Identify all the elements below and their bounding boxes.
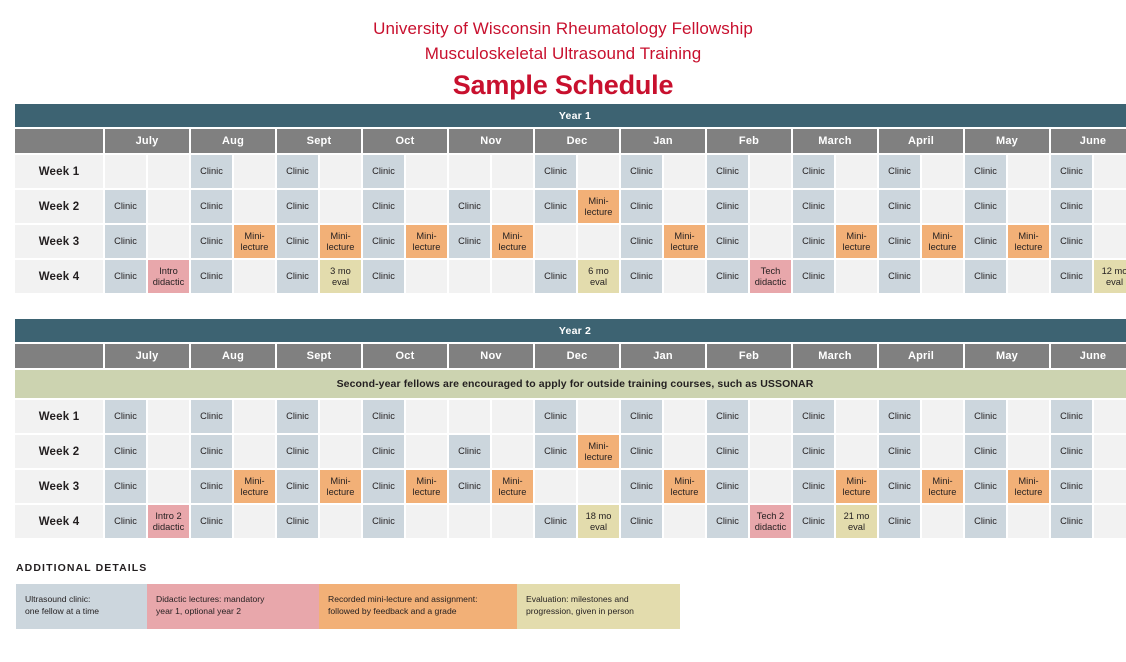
- week-label: Week 3: [15, 225, 103, 258]
- schedule-cell[interactable]: Clinic: [535, 260, 576, 293]
- year2-note-row: Second-year fellows are encouraged to ap…: [15, 370, 1126, 398]
- schedule-cell[interactable]: Clinic: [363, 505, 404, 538]
- legend-mini-line-1: Recorded mini-lecture and assignment:: [328, 593, 509, 605]
- year2-banner-row: Year 2: [15, 319, 1126, 342]
- schedule-cell[interactable]: Clinic: [793, 260, 834, 293]
- schedule-cell[interactable]: Clinic: [363, 225, 404, 258]
- schedule-cell[interactable]: [578, 470, 619, 503]
- schedule-cell[interactable]: Mini-lecture: [578, 435, 619, 468]
- schedule-cell[interactable]: Clinic: [965, 190, 1006, 223]
- legend: Ultrasound clinic: one fellow at a time …: [16, 584, 680, 629]
- table-spacer: [13, 295, 1113, 317]
- schedule-cell[interactable]: [578, 155, 619, 188]
- legend-didactic-line-2: year 1, optional year 2: [156, 605, 311, 617]
- schedule-cell[interactable]: Clinic: [191, 190, 232, 223]
- schedule-cell[interactable]: Clinic: [363, 155, 404, 188]
- schedule-cell[interactable]: Clinic: [707, 225, 748, 258]
- schedule-cell[interactable]: [922, 155, 963, 188]
- schedule-cell[interactable]: [320, 190, 361, 223]
- schedule-cell[interactable]: Clinic: [191, 400, 232, 433]
- schedule-cell[interactable]: [1008, 505, 1049, 538]
- schedule-cell[interactable]: Clinic: [793, 190, 834, 223]
- year1-month-header-row: July Aug Sept Oct Nov Dec Jan Feb March …: [15, 129, 1126, 153]
- month-header-july: July: [105, 129, 189, 153]
- schedule-cell[interactable]: [234, 155, 275, 188]
- month-header-oct: Oct: [363, 129, 447, 153]
- schedule-cell[interactable]: Clinic: [535, 190, 576, 223]
- schedule-cell[interactable]: Mini-lecture: [406, 225, 447, 258]
- month-header-sept: Sept: [277, 129, 361, 153]
- schedule-cell[interactable]: Clinic: [707, 435, 748, 468]
- year1-banner: Year 1: [15, 104, 1126, 127]
- schedule-cell[interactable]: Clinic: [965, 400, 1006, 433]
- schedule-cell[interactable]: [449, 505, 490, 538]
- schedule-cell[interactable]: Clinic: [277, 435, 318, 468]
- schedule-cell[interactable]: [492, 155, 533, 188]
- year2-month-header-row: July Aug Sept Oct Nov Dec Jan Feb March …: [15, 344, 1126, 368]
- schedule-cell[interactable]: Clinic: [191, 225, 232, 258]
- schedule-cell[interactable]: [1008, 435, 1049, 468]
- schedule-cell[interactable]: Clinic: [1051, 470, 1092, 503]
- schedule-cell[interactable]: Clinic: [105, 505, 146, 538]
- schedule-cell[interactable]: Clinic: [105, 435, 146, 468]
- schedule-cell[interactable]: [148, 435, 189, 468]
- schedule-cell[interactable]: 18 mo eval: [578, 505, 619, 538]
- month-header-nov: Nov: [449, 344, 533, 368]
- schedule-cell[interactable]: [750, 470, 791, 503]
- schedule-cell[interactable]: Clinic: [449, 435, 490, 468]
- schedule-cell[interactable]: [320, 435, 361, 468]
- schedule-cell[interactable]: Clinic: [1051, 505, 1092, 538]
- schedule-cell[interactable]: [750, 190, 791, 223]
- legend-didactic-line-1: Didactic lectures: mandatory: [156, 593, 311, 605]
- schedule-cell[interactable]: Mini-lecture: [664, 470, 705, 503]
- schedule-cell[interactable]: [234, 435, 275, 468]
- month-header-dec: Dec: [535, 344, 619, 368]
- schedule-cell[interactable]: Clinic: [105, 260, 146, 293]
- schedule-cell[interactable]: Clinic: [1051, 260, 1092, 293]
- schedule-cell[interactable]: Clinic: [105, 400, 146, 433]
- schedule-cell[interactable]: Clinic: [191, 260, 232, 293]
- schedule-cell[interactable]: Clinic: [621, 470, 662, 503]
- schedule-cell[interactable]: [664, 400, 705, 433]
- schedule-cell[interactable]: Clinic: [191, 435, 232, 468]
- schedule-cell[interactable]: Clinic: [621, 435, 662, 468]
- schedule-cell[interactable]: Clinic: [105, 190, 146, 223]
- schedule-cell[interactable]: Clinic: [793, 435, 834, 468]
- schedule-cell[interactable]: Clinic: [1051, 190, 1092, 223]
- table-row: Week 2 Clinic Clinic Clinic Clinic Clini…: [15, 190, 1126, 223]
- schedule-cell[interactable]: Clinic: [965, 470, 1006, 503]
- schedule-cell[interactable]: Clinic: [449, 190, 490, 223]
- year1-table: Year 1 July Aug Sept Oct Nov Dec Jan Feb…: [13, 102, 1126, 295]
- schedule-cell[interactable]: 21 mo eval: [836, 505, 877, 538]
- schedule-cell[interactable]: Clinic: [191, 155, 232, 188]
- schedule-cell[interactable]: Clinic: [535, 505, 576, 538]
- schedule-cell[interactable]: Clinic: [879, 435, 920, 468]
- table-row: Week 3 Clinic Clinic Mini-lecture Clinic…: [15, 225, 1126, 258]
- schedule-cell[interactable]: Clinic: [1051, 400, 1092, 433]
- schedule-page: University of Wisconsin Rheumatology Fel…: [0, 0, 1126, 662]
- week-label: Week 4: [15, 505, 103, 538]
- legend-eval-line-2: progression, given in person: [526, 605, 672, 617]
- schedule-cell[interactable]: Tech didactic: [750, 260, 791, 293]
- schedule-cell[interactable]: Clinic: [621, 155, 662, 188]
- schedule-cell[interactable]: [836, 400, 877, 433]
- schedule-cell[interactable]: Clinic: [191, 505, 232, 538]
- week-label: Week 2: [15, 190, 103, 223]
- additional-details-heading: ADDITIONAL DETAILS: [16, 562, 1126, 574]
- schedule-cell[interactable]: Clinic: [793, 225, 834, 258]
- schedule-cell[interactable]: Mini-lecture: [492, 470, 533, 503]
- schedule-cell[interactable]: [234, 505, 275, 538]
- schedule-cell[interactable]: [1008, 190, 1049, 223]
- year2-table: Year 2 July Aug Sept Oct Nov Dec Jan Feb…: [13, 317, 1126, 540]
- legend-eval-line-1: Evaluation: milestones and: [526, 593, 672, 605]
- schedule-cell[interactable]: [1094, 190, 1126, 223]
- month-header-aug: Aug: [191, 344, 275, 368]
- year1-banner-row: Year 1: [15, 104, 1126, 127]
- schedule-cell[interactable]: Clinic: [707, 505, 748, 538]
- schedule-cell[interactable]: [1094, 155, 1126, 188]
- schedule-cell[interactable]: [234, 190, 275, 223]
- schedule-cell[interactable]: Clinic: [277, 190, 318, 223]
- schedule-cell[interactable]: [1094, 505, 1126, 538]
- schedule-cell[interactable]: [492, 190, 533, 223]
- schedule-cell[interactable]: [664, 190, 705, 223]
- month-header-feb: Feb: [707, 344, 791, 368]
- schedule-cell[interactable]: Clinic: [621, 400, 662, 433]
- schedule-cell[interactable]: Intro 2 didactic: [148, 505, 189, 538]
- schedule-cell[interactable]: Mini-lecture: [1008, 470, 1049, 503]
- schedule-cell[interactable]: Intro didactic: [148, 260, 189, 293]
- legend-item-mini-lecture: Recorded mini-lecture and assignment: fo…: [319, 584, 517, 629]
- schedule-cell[interactable]: [406, 400, 447, 433]
- schedule-cell[interactable]: [492, 260, 533, 293]
- schedule-cell[interactable]: Clinic: [965, 225, 1006, 258]
- schedule-cell[interactable]: Clinic: [105, 225, 146, 258]
- schedule-cell[interactable]: [836, 435, 877, 468]
- legend-clinic-line-2: one fellow at a time: [25, 605, 139, 617]
- schedule-cell[interactable]: Clinic: [363, 470, 404, 503]
- schedule-cell[interactable]: Clinic: [277, 260, 318, 293]
- schedule-cell[interactable]: Clinic: [707, 155, 748, 188]
- schedule-cell[interactable]: [664, 505, 705, 538]
- schedule-cell[interactable]: Clinic: [879, 225, 920, 258]
- schedule-cell[interactable]: Mini-lecture: [836, 470, 877, 503]
- schedule-cell[interactable]: [449, 155, 490, 188]
- schedule-cell[interactable]: [234, 260, 275, 293]
- schedule-cell[interactable]: [1008, 260, 1049, 293]
- month-header-dec: Dec: [535, 129, 619, 153]
- schedule-cell[interactable]: Mini-lecture: [836, 225, 877, 258]
- table-row: Week 1 Clinic Clinic Clinic Clinic Clini…: [15, 400, 1126, 433]
- schedule-cell[interactable]: 3 mo eval: [320, 260, 361, 293]
- schedule-cell[interactable]: Clinic: [707, 470, 748, 503]
- schedule-cell[interactable]: Mini-lecture: [406, 470, 447, 503]
- schedule-cell[interactable]: Mini-lecture: [234, 470, 275, 503]
- schedule-cell[interactable]: Clinic: [449, 225, 490, 258]
- month-header-june: June: [1051, 344, 1126, 368]
- schedule-cell[interactable]: [105, 155, 146, 188]
- month-header-april: April: [879, 344, 963, 368]
- schedule-cell[interactable]: Clinic: [277, 400, 318, 433]
- schedule-cell[interactable]: [234, 400, 275, 433]
- schedule-cell[interactable]: [148, 190, 189, 223]
- corner-cell: [15, 344, 103, 368]
- schedule-cell[interactable]: [1094, 470, 1126, 503]
- month-header-july: July: [105, 344, 189, 368]
- schedule-cell[interactable]: Clinic: [879, 155, 920, 188]
- table-row: Week 4 Clinic Intro 2 didactic Clinic Cl…: [15, 505, 1126, 538]
- month-header-april: April: [879, 129, 963, 153]
- month-header-nov: Nov: [449, 129, 533, 153]
- schedule-cell[interactable]: Clinic: [277, 505, 318, 538]
- week-label: Week 1: [15, 155, 103, 188]
- schedule-cell[interactable]: Mini-lecture: [922, 225, 963, 258]
- month-header-may: May: [965, 129, 1049, 153]
- schedule-cell[interactable]: [1094, 225, 1126, 258]
- schedule-cell[interactable]: Clinic: [965, 505, 1006, 538]
- schedule-cell[interactable]: [1094, 435, 1126, 468]
- schedule-cell[interactable]: Mini-lecture: [492, 225, 533, 258]
- schedule-cell[interactable]: [750, 435, 791, 468]
- schedule-cell[interactable]: Clinic: [793, 505, 834, 538]
- schedule-cell[interactable]: Clinic: [793, 470, 834, 503]
- schedule-cell[interactable]: Clinic: [965, 155, 1006, 188]
- schedule-cell[interactable]: Clinic: [1051, 435, 1092, 468]
- schedule-cell[interactable]: Mini-lecture: [320, 470, 361, 503]
- month-header-sept: Sept: [277, 344, 361, 368]
- schedule-cell[interactable]: [406, 435, 447, 468]
- schedule-cell[interactable]: Clinic: [965, 260, 1006, 293]
- schedule-cell[interactable]: Clinic: [277, 225, 318, 258]
- header-line-1: University of Wisconsin Rheumatology Fel…: [0, 16, 1126, 41]
- schedule-cell[interactable]: [449, 400, 490, 433]
- schedule-cell[interactable]: Clinic: [363, 260, 404, 293]
- schedule-cell[interactable]: Clinic: [191, 470, 232, 503]
- schedule-cell[interactable]: Clinic: [879, 505, 920, 538]
- schedule-cell[interactable]: 6 mo eval: [578, 260, 619, 293]
- table-row: Week 4 Clinic Intro didactic Clinic Clin…: [15, 260, 1126, 293]
- week-label: Week 2: [15, 435, 103, 468]
- week-label: Week 4: [15, 260, 103, 293]
- schedules-container: Year 1 July Aug Sept Oct Nov Dec Jan Feb…: [13, 102, 1113, 540]
- month-header-feb: Feb: [707, 129, 791, 153]
- month-header-june: June: [1051, 129, 1126, 153]
- schedule-cell[interactable]: [406, 190, 447, 223]
- schedule-cell[interactable]: Mini-lecture: [578, 190, 619, 223]
- schedule-cell[interactable]: [922, 190, 963, 223]
- page-header: University of Wisconsin Rheumatology Fel…: [0, 0, 1126, 102]
- schedule-cell[interactable]: [922, 400, 963, 433]
- schedule-cell[interactable]: Clinic: [621, 260, 662, 293]
- schedule-cell[interactable]: [148, 470, 189, 503]
- schedule-cell[interactable]: [750, 225, 791, 258]
- schedule-cell[interactable]: [148, 400, 189, 433]
- schedule-cell[interactable]: Mini-lecture: [1008, 225, 1049, 258]
- schedule-cell[interactable]: [320, 400, 361, 433]
- schedule-cell[interactable]: Clinic: [621, 505, 662, 538]
- schedule-cell[interactable]: [750, 155, 791, 188]
- schedule-cell[interactable]: 12 mo eval: [1094, 260, 1126, 293]
- month-header-aug: Aug: [191, 129, 275, 153]
- schedule-cell[interactable]: [535, 470, 576, 503]
- table-row: Week 2 Clinic Clinic Clinic Clinic Clini…: [15, 435, 1126, 468]
- legend-clinic-line-1: Ultrasound clinic:: [25, 593, 139, 605]
- legend-item-clinic: Ultrasound clinic: one fellow at a time: [16, 584, 147, 629]
- schedule-cell[interactable]: Clinic: [793, 155, 834, 188]
- month-header-may: May: [965, 344, 1049, 368]
- schedule-cell[interactable]: Clinic: [277, 470, 318, 503]
- month-header-march: March: [793, 129, 877, 153]
- schedule-cell[interactable]: Mini-lecture: [922, 470, 963, 503]
- schedule-cell[interactable]: Clinic: [707, 400, 748, 433]
- schedule-cell[interactable]: [535, 225, 576, 258]
- schedule-cell[interactable]: [578, 225, 619, 258]
- schedule-cell[interactable]: Clinic: [363, 400, 404, 433]
- schedule-cell[interactable]: Clinic: [879, 190, 920, 223]
- schedule-cell[interactable]: Clinic: [879, 260, 920, 293]
- schedule-cell[interactable]: Clinic: [449, 470, 490, 503]
- schedule-cell[interactable]: Clinic: [1051, 155, 1092, 188]
- week-label: Week 1: [15, 400, 103, 433]
- schedule-cell[interactable]: [664, 260, 705, 293]
- legend-item-didactic: Didactic lectures: mandatory year 1, opt…: [147, 584, 319, 629]
- schedule-cell[interactable]: Clinic: [535, 155, 576, 188]
- schedule-cell[interactable]: [664, 155, 705, 188]
- schedule-cell[interactable]: Clinic: [793, 400, 834, 433]
- year2-note: Second-year fellows are encouraged to ap…: [15, 370, 1126, 398]
- schedule-cell[interactable]: Clinic: [879, 400, 920, 433]
- header-line-2: Musculoskeletal Ultrasound Training: [0, 41, 1126, 66]
- schedule-cell[interactable]: [1008, 155, 1049, 188]
- schedule-cell[interactable]: [1094, 400, 1126, 433]
- table-row: Week 3 Clinic Clinic Mini-lecture Clinic…: [15, 470, 1126, 503]
- schedule-cell[interactable]: Mini-lecture: [320, 225, 361, 258]
- schedule-cell[interactable]: [492, 400, 533, 433]
- schedule-cell[interactable]: [1008, 400, 1049, 433]
- schedule-cell[interactable]: Clinic: [363, 435, 404, 468]
- schedule-cell[interactable]: [922, 435, 963, 468]
- schedule-cell[interactable]: Clinic: [535, 400, 576, 433]
- schedule-cell[interactable]: [836, 190, 877, 223]
- schedule-cell[interactable]: [578, 400, 619, 433]
- schedule-cell[interactable]: [148, 225, 189, 258]
- schedule-cell[interactable]: Clinic: [535, 435, 576, 468]
- schedule-cell[interactable]: [148, 155, 189, 188]
- schedule-cell[interactable]: [922, 505, 963, 538]
- schedule-cell[interactable]: [406, 260, 447, 293]
- schedule-cell[interactable]: [406, 505, 447, 538]
- legend-mini-line-2: followed by feedback and a grade: [328, 605, 509, 617]
- schedule-cell[interactable]: Clinic: [363, 190, 404, 223]
- schedule-cell[interactable]: Mini-lecture: [234, 225, 275, 258]
- schedule-cell[interactable]: [750, 400, 791, 433]
- month-header-march: March: [793, 344, 877, 368]
- table-row: Week 1 Clinic Clinic Clinic Clinic Clini…: [15, 155, 1126, 188]
- schedule-cell[interactable]: Clinic: [621, 190, 662, 223]
- schedule-cell[interactable]: Clinic: [105, 470, 146, 503]
- schedule-cell[interactable]: Clinic: [965, 435, 1006, 468]
- page-title: Sample Schedule: [0, 68, 1126, 102]
- month-header-jan: Jan: [621, 129, 705, 153]
- schedule-cell[interactable]: [320, 505, 361, 538]
- schedule-cell[interactable]: [406, 155, 447, 188]
- schedule-cell[interactable]: Clinic: [621, 225, 662, 258]
- month-header-oct: Oct: [363, 344, 447, 368]
- schedule-cell[interactable]: Clinic: [277, 155, 318, 188]
- legend-item-evaluation: Evaluation: milestones and progression, …: [517, 584, 680, 629]
- schedule-cell[interactable]: Clinic: [707, 190, 748, 223]
- year2-banner: Year 2: [15, 319, 1126, 342]
- month-header-jan: Jan: [621, 344, 705, 368]
- schedule-cell[interactable]: [449, 260, 490, 293]
- schedule-cell[interactable]: Clinic: [707, 260, 748, 293]
- corner-cell: [15, 129, 103, 153]
- schedule-cell[interactable]: [492, 505, 533, 538]
- schedule-cell[interactable]: Clinic: [879, 470, 920, 503]
- schedule-cell[interactable]: [836, 260, 877, 293]
- schedule-cell[interactable]: [492, 435, 533, 468]
- schedule-cell[interactable]: Mini-lecture: [664, 225, 705, 258]
- schedule-cell[interactable]: Clinic: [1051, 225, 1092, 258]
- week-label: Week 3: [15, 470, 103, 503]
- schedule-cell[interactable]: [320, 155, 361, 188]
- schedule-cell[interactable]: Tech 2 didactic: [750, 505, 791, 538]
- schedule-cell[interactable]: [922, 260, 963, 293]
- schedule-cell[interactable]: [664, 435, 705, 468]
- schedule-cell[interactable]: [836, 155, 877, 188]
